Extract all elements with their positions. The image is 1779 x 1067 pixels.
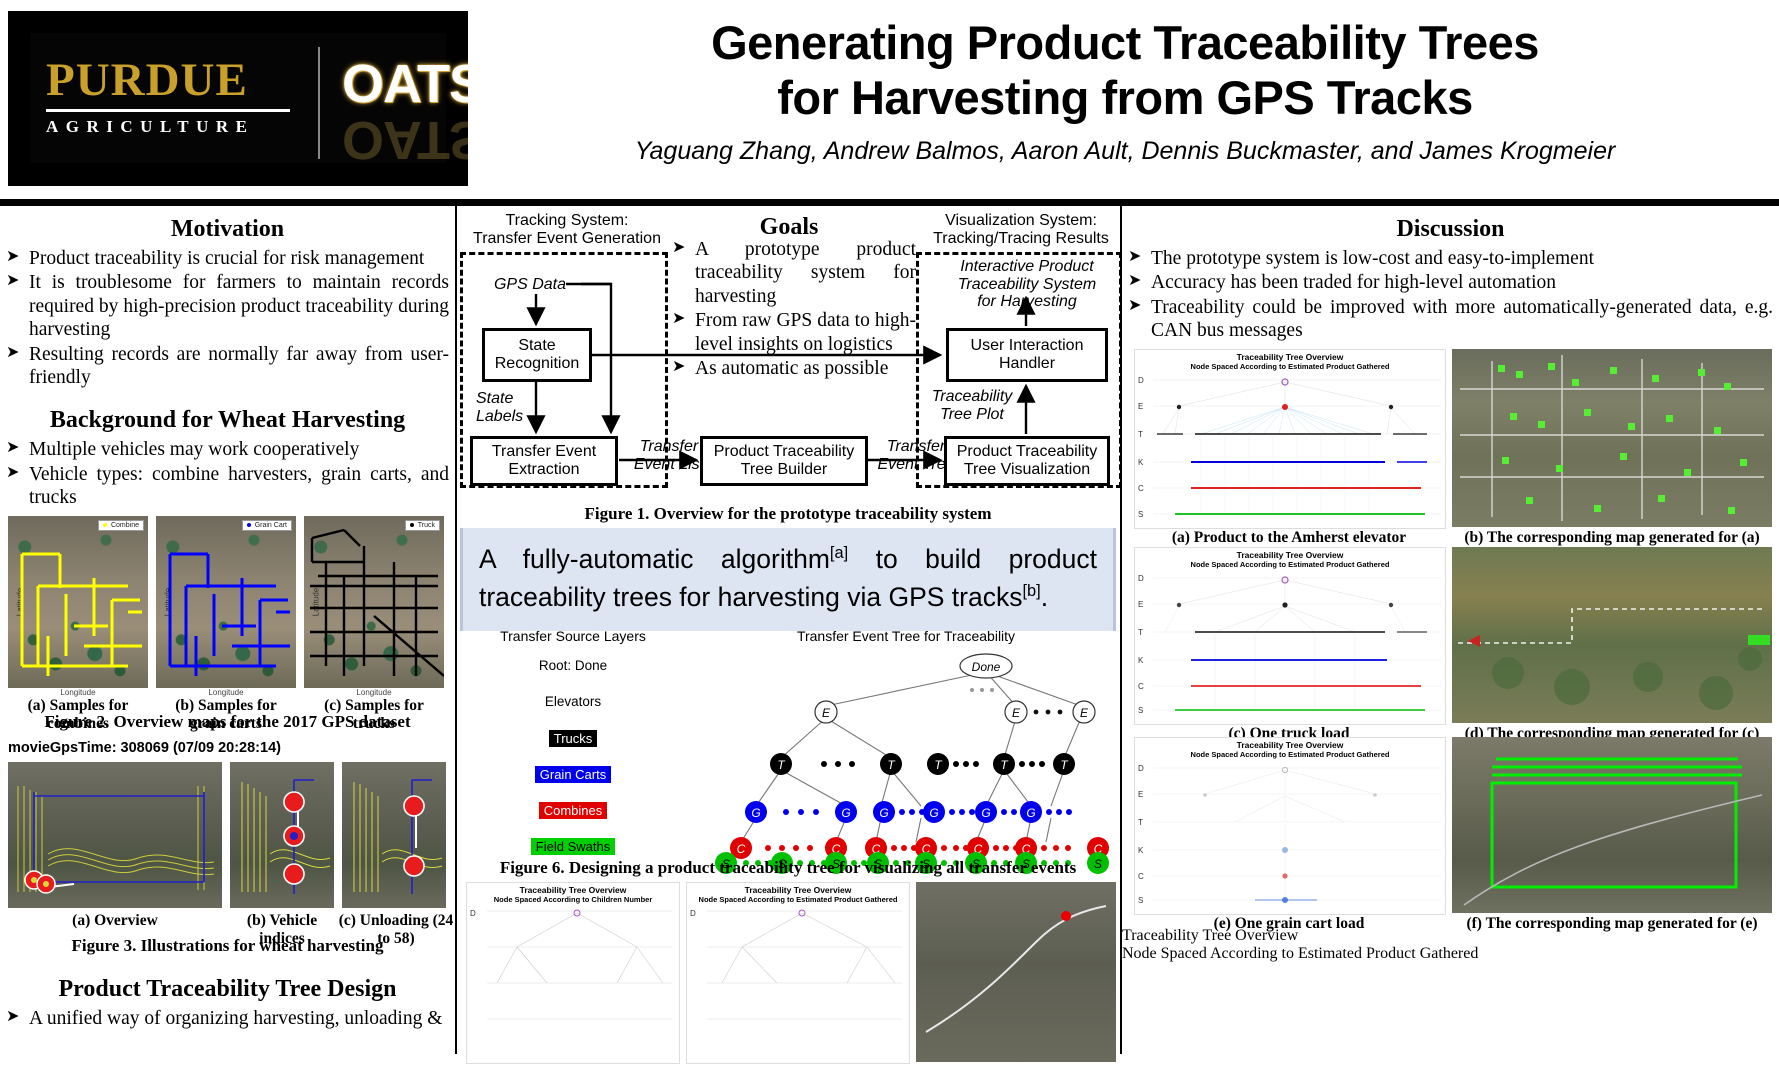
figure-6-caption: Figure 6. Designing a product traceabili… [456, 858, 1120, 878]
user-interaction-box: User Interaction Handler [946, 328, 1108, 382]
state-labels-label: State Labels [476, 390, 546, 425]
plot-title: Traceability Tree Overview [687, 885, 909, 895]
plot-title: Traceability Tree Overview [1135, 550, 1445, 560]
title-block: Generating Product Traceability Trees fo… [480, 16, 1770, 166]
transfer-event-tree-title: Transfer Event Tree for Traceability [706, 628, 1106, 644]
list-item: The prototype system is low-cost and eas… [1126, 247, 1773, 270]
figure-caption: (b) Samples for grain carts [156, 697, 296, 733]
tracking-label-line2: Transfer Event Generation [473, 230, 661, 247]
tree-visualization-label: Product Traceability Tree Visualization [957, 443, 1098, 479]
list-item: A unified way of organizing harvesting, … [4, 1007, 449, 1030]
panel-row-cd: Traceability Tree Overview Node Spaced A… [1122, 547, 1779, 741]
figure-caption: (b) The corresponding map generated for … [1452, 529, 1772, 547]
map-panel-d[interactable] [1452, 547, 1772, 723]
svg-text:G: G [751, 806, 760, 820]
tree-builder-box: Product Traceability Tree Builder [700, 436, 868, 486]
interactive-system-label: Interactive Product Traceability System … [942, 258, 1112, 311]
callout-part3: . [1041, 582, 1048, 612]
callout-text: A fully-automatic algorithm[a] to build … [479, 540, 1097, 617]
purdue-rule [46, 109, 290, 112]
layer-label-elevators: Elevators [478, 694, 668, 709]
plot-subtitle: Node Spaced According to Estimated Produ… [1135, 560, 1445, 569]
list-item: Vehicle types: combine harvesters, grain… [4, 463, 449, 510]
tree-plot-children-number[interactable]: Traceability Tree Overview Node Spaced A… [466, 882, 680, 1064]
svg-text:G: G [1026, 806, 1035, 820]
viz-label-line1: Visualization System: [945, 212, 1097, 229]
x-axis-label: Longitude [156, 688, 296, 697]
svg-text:G: G [929, 806, 938, 820]
svg-text:E: E [1012, 706, 1021, 720]
plot-subtitle: Node Spaced According to Estimated Produ… [1122, 945, 1779, 963]
map-combines[interactable]: Latitude Combine [8, 516, 148, 688]
transfer-event-extraction-label: Transfer Event Extraction [492, 443, 596, 479]
unloading-image[interactable] [342, 762, 446, 908]
tracking-label-line1: Tracking System: [506, 212, 629, 229]
background-heading: Background for Wheat Harvesting [0, 407, 455, 434]
plot-title: Traceability Tree Overview [1135, 352, 1445, 362]
layer-label-combines: Combines [539, 802, 608, 819]
layer-label-field-swaths: Field Swaths [531, 838, 615, 855]
callout-part1: A fully-automatic algorithm [479, 544, 830, 574]
plot-subtitle: Node Spaced According to Children Number [467, 895, 679, 904]
figure-caption: (a) Product to the Amherst elevator [1134, 529, 1444, 547]
vehicle-indices-image[interactable] [230, 762, 334, 908]
svg-text:E: E [1080, 706, 1089, 720]
list-item: Multiple vehicles may work cooperatively [4, 438, 449, 461]
middle-column: Tracking System: Transfer Event Generati… [456, 210, 1120, 524]
right-column: Discussion The prototype system is low-c… [1122, 210, 1779, 963]
list-item: It is troublesome for farmers to maintai… [4, 271, 449, 341]
tree-plot-a[interactable]: Traceability Tree Overview Node Spaced A… [1134, 349, 1446, 529]
bottom-tree-plot[interactable]: Traceability Tree Overview Node Spaced A… [1122, 927, 1779, 963]
purdue-oats-logo: PURDUE AGRICULTURE OATS OATS [8, 11, 468, 186]
svg-text:G: G [841, 806, 850, 820]
movie-gps-time-label: movieGpsTime: 308069 (07/09 20:28:14) [8, 740, 281, 756]
figure-caption: (a) Samples for combines [8, 697, 148, 733]
oats-reflection: OATS [342, 109, 468, 171]
tree-plot-c[interactable]: Traceability Tree Overview Node Spaced A… [1134, 547, 1446, 725]
key-contribution-callout: A fully-automatic algorithm[a] to build … [460, 528, 1116, 631]
left-column: Motivation Product traceability is cruci… [0, 210, 455, 1031]
svg-text:G: G [981, 806, 990, 820]
discussion-list: The prototype system is low-cost and eas… [1122, 247, 1779, 343]
plot-title: Traceability Tree Overview [467, 885, 679, 895]
tree-builder-label: Product Traceability Tree Builder [714, 443, 855, 479]
goals-heading: Goals [670, 214, 908, 241]
tracking-system-group-label: Tracking System: Transfer Event Generati… [472, 212, 662, 249]
plot-subtitle: Node Spaced According to Estimated Produ… [1135, 750, 1445, 759]
list-item: Resulting records are normally far away … [4, 343, 449, 390]
discussion-heading: Discussion [1122, 216, 1779, 243]
tree-plot-product-gathered[interactable]: Traceability Tree Overview Node Spaced A… [686, 882, 910, 1064]
page-title-line1: Generating Product Traceability Trees [480, 16, 1770, 71]
figure-caption: (b) Vehicle indices [226, 912, 338, 948]
design-list: A unified way of organizing harvesting, … [0, 1007, 455, 1030]
x-axis-label: Longitude [304, 688, 444, 697]
design-heading: Product Traceability Tree Design [0, 976, 455, 1003]
panel-row-ef: Traceability Tree Overview Node Spaced A… [1122, 737, 1779, 931]
x-axis-label: Longitude [8, 688, 148, 697]
logo-inner-panel: PURDUE AGRICULTURE OATS OATS [30, 33, 446, 163]
transfer-event-extraction-box: Transfer Event Extraction [470, 436, 618, 486]
figure-caption: (c) Unloading (24 to 58) [338, 912, 454, 948]
poster-canvas: PURDUE AGRICULTURE OATS OATS Generating … [0, 0, 1779, 1054]
background-list: Multiple vehicles may work cooperatively… [0, 438, 455, 509]
plot-title: Traceability Tree Overview [1122, 927, 1779, 945]
transfer-event-tree-graphic: Done E E E T T T T T [686, 646, 1116, 868]
tree-plot-label: Traceability Tree Plot [926, 388, 1018, 423]
list-item: Traceability could be improved with more… [1126, 296, 1773, 343]
list-item: Accuracy has been traded for high-level … [1126, 271, 1773, 294]
motivation-heading: Motivation [0, 216, 455, 243]
transfer-source-layers-title: Transfer Source Layers [478, 628, 668, 644]
figure-1: Tracking System: Transfer Event Generati… [456, 210, 1120, 510]
list-item: As automatic as possible [670, 357, 916, 380]
layer-label-grain-carts: Grain Carts [535, 766, 611, 783]
callout-ref-a: [a] [830, 544, 848, 562]
state-recognition-box: State Recognition [482, 328, 592, 382]
bottom-map-thumbnail[interactable] [916, 882, 1116, 1062]
map-panel-f[interactable] [1452, 737, 1772, 913]
figure-caption: (a) Overview [8, 912, 222, 930]
plot-title: Traceability Tree Overview [1135, 740, 1445, 750]
tree-visualization-box: Product Traceability Tree Visualization [944, 436, 1110, 486]
list-item: From raw GPS data to high-level insights… [670, 309, 916, 356]
gps-data-label: GPS Data [480, 276, 580, 294]
svg-text:Done: Done [972, 660, 1001, 674]
list-item: A prototype product traceability system … [670, 238, 916, 308]
map-trucks[interactable]: Latitude Truck [304, 516, 444, 688]
header-divider-rule [0, 199, 1779, 206]
callout-ref-b: [b] [1022, 583, 1040, 601]
figure-2: Latitude Combine Longitude (a) Samples f… [0, 516, 455, 714]
harvest-overview-image[interactable] [8, 762, 222, 908]
svg-text:E: E [822, 706, 831, 720]
logo-divider [318, 47, 320, 159]
purdue-agriculture-wordmark: AGRICULTURE [46, 117, 254, 137]
svg-text:G: G [879, 806, 888, 820]
map-grain-carts[interactable]: Latitude Grain Cart [156, 516, 296, 688]
plot-subtitle: Node Spaced According to Estimated Produ… [687, 895, 909, 904]
goals-list: A prototype product traceability system … [666, 238, 922, 381]
purdue-wordmark: PURDUE [46, 57, 248, 104]
visualization-system-group-label: Visualization System: Tracking/Tracing R… [926, 212, 1116, 249]
layer-label-root: Root: Done [478, 658, 668, 673]
poster-header: PURDUE AGRICULTURE OATS OATS Generating … [0, 0, 1779, 198]
plot-subtitle: Node Spaced According to Estimated Produ… [1135, 362, 1445, 371]
oats-wordmark: OATS [342, 53, 468, 115]
author-list: Yaguang Zhang, Andrew Balmos, Aaron Ault… [480, 137, 1770, 166]
user-interaction-label: User Interaction Handler [971, 337, 1084, 373]
list-item: Product traceability is crucial for risk… [4, 247, 449, 270]
figure-caption: (c) Samples for trucks [304, 697, 444, 733]
map-panel-b[interactable] [1452, 349, 1772, 527]
motivation-list: Product traceability is crucial for risk… [0, 247, 455, 389]
layer-label-trucks: Trucks [549, 730, 598, 747]
state-recognition-label: State Recognition [495, 337, 580, 373]
figure-3: movieGpsTime: 308069 (07/09 20:28:14) [0, 740, 455, 936]
figure-6: Transfer Source Layers Transfer Event Tr… [456, 628, 1120, 858]
tree-plot-e[interactable]: Traceability Tree Overview Node Spaced A… [1134, 737, 1446, 915]
page-title-line2: for Harvesting from GPS Tracks [480, 71, 1770, 126]
viz-label-line2: Tracking/Tracing Results [933, 230, 1109, 247]
panel-row-ab: Traceability Tree Overview Node Spaced A… [1122, 349, 1779, 545]
